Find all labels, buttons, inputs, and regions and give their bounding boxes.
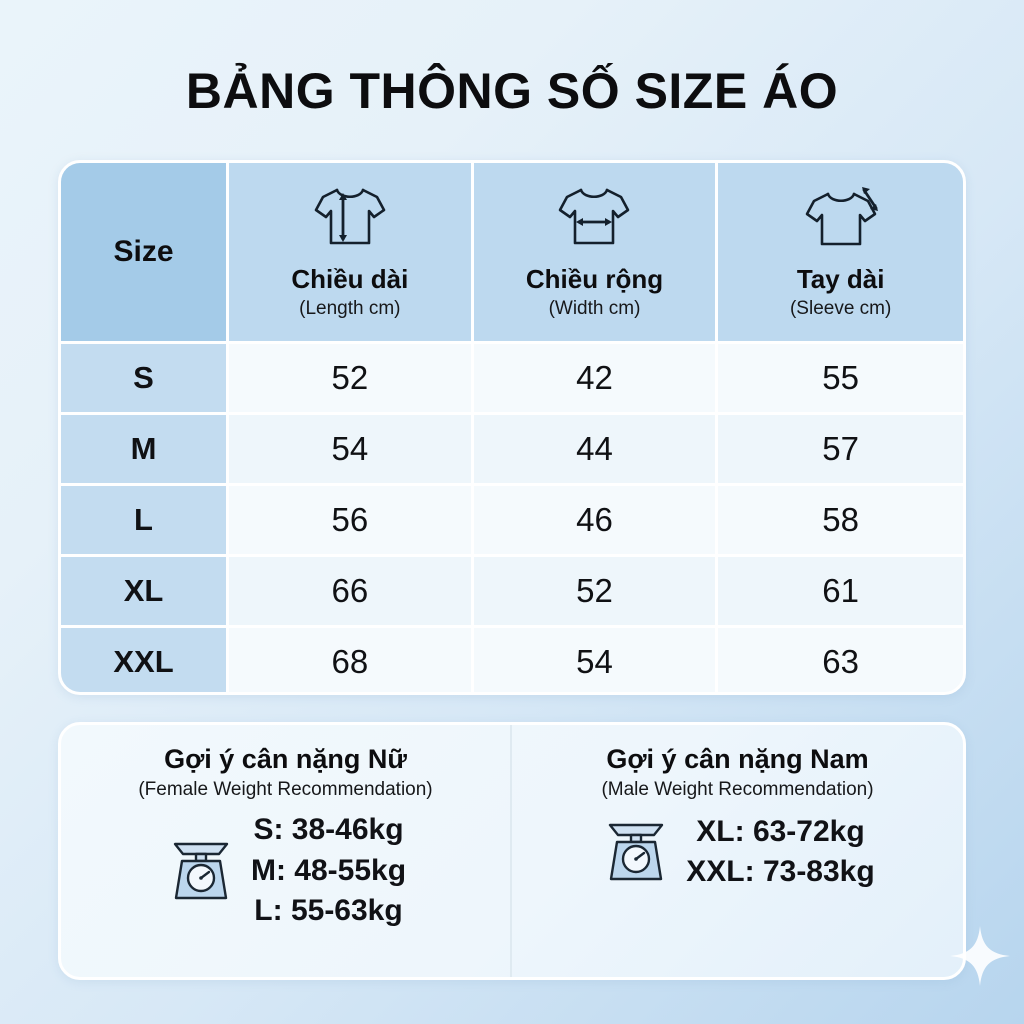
- size-table-card: Size Chiều dài (Length cm): [58, 160, 966, 695]
- female-weight-line: S: 38-46kg: [253, 811, 403, 849]
- cell-size: M: [61, 412, 229, 483]
- cell-length: 52: [229, 341, 474, 412]
- cell-length: 54: [229, 412, 474, 483]
- column-header-width-label: Chiều rộng: [480, 265, 710, 295]
- cell-width: 44: [474, 412, 719, 483]
- cell-sleeve: 61: [718, 554, 963, 625]
- cell-width: 54: [474, 625, 719, 695]
- male-panel-body: XL: 63-72kg XXL: 73-83kg: [512, 811, 963, 892]
- table-row: XL 66 52 61: [61, 554, 963, 625]
- table-header-row: Size Chiều dài (Length cm): [61, 163, 963, 341]
- table-row: S 52 42 55: [61, 341, 963, 412]
- cell-size: XL: [61, 554, 229, 625]
- male-weight-line: XXL: 73-83kg: [686, 853, 874, 891]
- size-table: Size Chiều dài (Length cm): [61, 163, 963, 695]
- male-panel-subheading: (Male Weight Recommendation): [512, 779, 963, 801]
- male-weight-line: XL: 63-72kg: [696, 813, 864, 851]
- column-header-size: Size: [61, 163, 229, 341]
- male-weight-lines: XL: 63-72kg XXL: 73-83kg: [686, 813, 874, 892]
- cell-size: XXL: [61, 625, 229, 695]
- female-weight-panel: Gợi ý cân nặng Nữ (Female Weight Recomme…: [61, 725, 512, 977]
- female-weight-lines: S: 38-46kg M: 48-55kg L: 55-63kg: [251, 811, 406, 930]
- page-title: BẢNG THÔNG SỐ SIZE ÁO: [0, 62, 1024, 120]
- kitchen-scale-icon: [600, 811, 672, 892]
- column-header-sleeve-sub: (Sleeve cm): [724, 298, 957, 320]
- size-table-header: Size Chiều dài (Length cm): [61, 163, 963, 341]
- cell-length: 56: [229, 483, 474, 554]
- column-header-width: Chiều rộng (Width cm): [474, 163, 719, 341]
- column-header-size-label: Size: [113, 235, 173, 268]
- table-row: L 56 46 58: [61, 483, 963, 554]
- cell-size: L: [61, 483, 229, 554]
- male-weight-panel: Gợi ý cân nặng Nam (Male Weight Recommen…: [512, 725, 963, 977]
- column-header-sleeve-label: Tay dài: [724, 265, 957, 295]
- tshirt-width-icon: [480, 184, 710, 255]
- tshirt-sleeve-icon: [724, 184, 957, 255]
- column-header-length-sub: (Length cm): [235, 298, 465, 320]
- female-panel-heading: Gợi ý cân nặng Nữ: [61, 743, 510, 775]
- cell-size: S: [61, 341, 229, 412]
- cell-length: 68: [229, 625, 474, 695]
- tshirt-length-icon: [235, 184, 465, 255]
- cell-sleeve: 63: [718, 625, 963, 695]
- male-panel-heading: Gợi ý cân nặng Nam: [512, 743, 963, 775]
- cell-width: 42: [474, 341, 719, 412]
- table-row: XXL 68 54 63: [61, 625, 963, 695]
- column-header-width-sub: (Width cm): [480, 298, 710, 320]
- column-header-length-label: Chiều dài: [235, 265, 465, 295]
- cell-width: 46: [474, 483, 719, 554]
- cell-sleeve: 58: [718, 483, 963, 554]
- female-weight-line: M: 48-55kg: [251, 852, 406, 890]
- female-panel-subheading: (Female Weight Recommendation): [61, 779, 510, 801]
- cell-width: 52: [474, 554, 719, 625]
- female-panel-body: S: 38-46kg M: 48-55kg L: 55-63kg: [61, 811, 510, 930]
- female-weight-line: L: 55-63kg: [254, 892, 402, 930]
- column-header-sleeve: Tay dài (Sleeve cm): [718, 163, 963, 341]
- cell-length: 66: [229, 554, 474, 625]
- cell-sleeve: 57: [718, 412, 963, 483]
- cell-sleeve: 55: [718, 341, 963, 412]
- kitchen-scale-icon: [165, 830, 237, 911]
- size-table-body: S 52 42 55 M 54 44 57 L 56 46 58 XL 66 5…: [61, 341, 963, 695]
- weight-recommendation-card: Gợi ý cân nặng Nữ (Female Weight Recomme…: [58, 722, 966, 980]
- table-row: M 54 44 57: [61, 412, 963, 483]
- column-header-length: Chiều dài (Length cm): [229, 163, 474, 341]
